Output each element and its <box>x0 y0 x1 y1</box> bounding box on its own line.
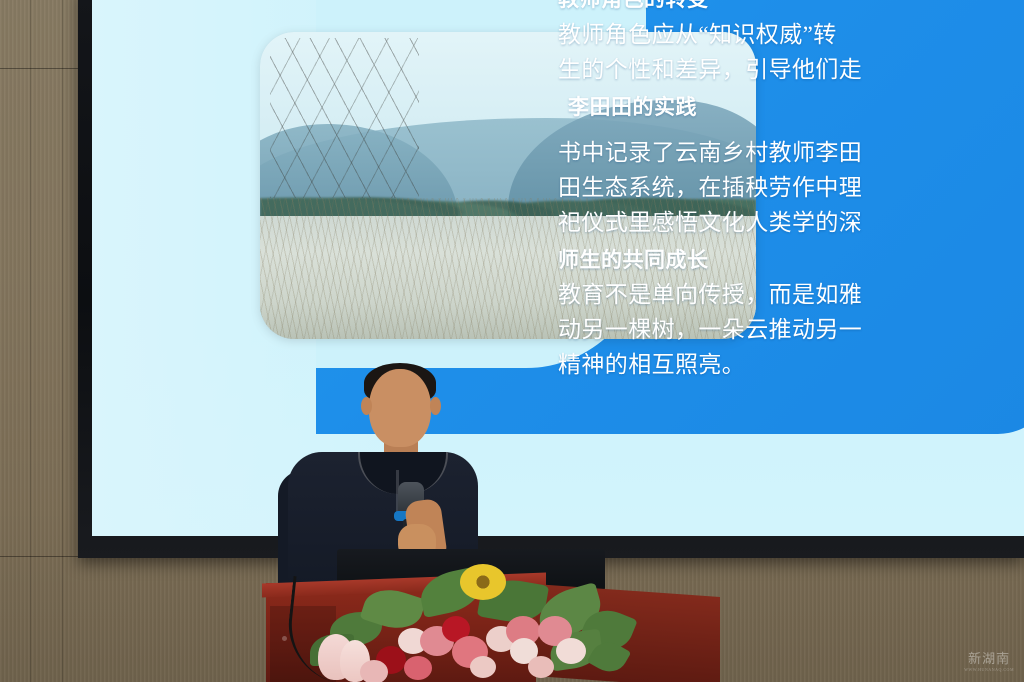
sunflower <box>460 564 506 600</box>
slide-body-1: 教师角色应从“知识权威”转 <box>558 18 1024 53</box>
watermark-url: WWW.HUNANAQ.COM <box>964 667 1014 672</box>
slide-body-7: 动另一棵树，一朵云推动另一 <box>558 313 1024 348</box>
photo-bare-branches <box>270 38 419 198</box>
photo-scene: 教师角色的转变 教师角色应从“知识权威”转 生的个性和差异，引导他们走 李田田的… <box>0 0 1024 682</box>
slide-text-column: 教师角色的转变 教师角色应从“知识权威”转 生的个性和差异，引导他们走 李田田的… <box>558 0 1024 383</box>
slide-heading-1: 教师角色的转变 <box>558 0 1024 16</box>
watermark: 新湖南 WWW.HUNANAQ.COM <box>964 652 1014 672</box>
slide-body-6: 教育不是单向传授，而是如雅 <box>558 278 1024 313</box>
speaker-ear-left <box>361 397 372 415</box>
slide-heading-3: 师生的共同成长 <box>558 245 1024 277</box>
watermark-text: 新湖南 <box>964 652 1014 665</box>
projection-screen: 教师角色的转变 教师角色应从“知识权威”转 生的个性和差异，引导他们走 李田田的… <box>92 0 1024 536</box>
speaker-head <box>369 369 431 447</box>
wall-panel-edge <box>62 0 63 682</box>
slide-heading-2: 李田田的实践 <box>558 92 1024 124</box>
speaker-ear-right <box>430 397 441 415</box>
slide-body-3: 书中记录了云南乡村教师李田 <box>558 136 1024 171</box>
slide-body-2: 生的个性和差异，引导他们走 <box>558 53 1024 88</box>
slide-body-8: 精神的相互照亮。 <box>558 348 1024 383</box>
slide-spacer <box>558 126 1024 136</box>
wall-panel-edge <box>30 0 31 682</box>
slide-body-4: 田生态系统，在插秧劳作中理 <box>558 171 1024 206</box>
podium-screw <box>282 636 287 641</box>
flower-arrangement <box>300 560 630 682</box>
slide-body-5: 祀仪式里感悟文化人类学的深 <box>558 206 1024 241</box>
presentation-slide: 教师角色的转变 教师角色应从“知识权威”转 生的个性和差异，引导他们走 李田田的… <box>92 0 1024 536</box>
